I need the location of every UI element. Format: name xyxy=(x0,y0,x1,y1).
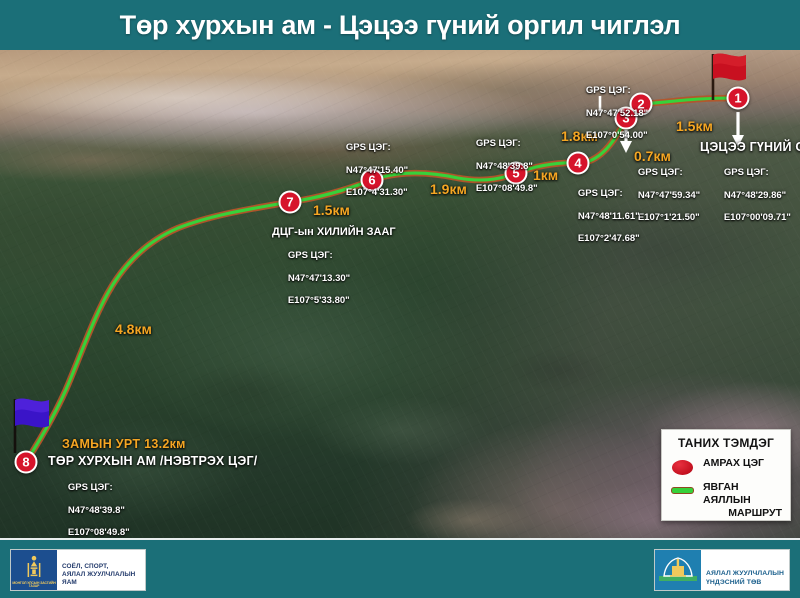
waypoint-label: 1 xyxy=(734,91,741,106)
gps-latitude: N47°48'39.8" xyxy=(68,505,125,516)
gps-longitude: E107°5'33.80" xyxy=(288,295,350,306)
legend-title: ТАНИХ ТЭМДЭГ xyxy=(670,436,782,450)
red-dot-icon xyxy=(672,460,693,475)
gps-longitude: E107°4'31.30" xyxy=(346,187,408,198)
waypoint-marker-7[interactable]: 7 xyxy=(279,191,302,214)
ministry-name-line1: СОЁЛ, СПОРТ, xyxy=(62,563,145,571)
tourism-center-line1: АЯЛАЛ ЖУУЛЧЛАЛЫН xyxy=(706,570,784,578)
gps-longitude: E107°00'09.71" xyxy=(724,212,791,223)
start-flag-icon xyxy=(6,393,60,460)
ger-emblem-icon xyxy=(655,550,701,590)
page-title: Төр хурхын ам - Цэцээ гүний оргил чиглэл xyxy=(120,10,681,41)
legend-label-line2: МАРШРУТ xyxy=(703,507,782,520)
map-legend: ТАНИХ ТЭМДЭГ АМРАХ ЦЭГ ЯВГАН АЯЛЛЫН МАРШ… xyxy=(661,429,791,521)
waypoint-marker-4[interactable]: 4 xyxy=(567,152,590,175)
distance-label-1-2: 1.5км xyxy=(676,118,713,134)
gps-title: GPS ЦЭГ: xyxy=(476,138,521,149)
ministry-logo: МОНГОЛ УЛСЫН ЗАСГИЙН ГАЗАР СОЁЛ, СПОРТ, … xyxy=(10,549,146,591)
poster-root: Төр хурхын ам - Цэцээ гүний оргил чиглэл xyxy=(0,0,800,598)
gps-title: GPS ЦЭГ: xyxy=(68,482,113,493)
legend-label-line1: ЯВГАН АЯЛЛЫН xyxy=(703,481,751,506)
legend-label-rest-point: АМРАХ ЦЭГ xyxy=(703,457,764,470)
waypoint-marker-8[interactable]: 8 xyxy=(15,451,38,474)
waypoint-label: 7 xyxy=(286,195,293,210)
legend-label-hiking-route: ЯВГАН АЯЛЛЫН МАРШРУТ xyxy=(703,481,782,520)
tourism-center-name: АЯЛАЛ ЖУУЛЧЛАЛЫН ҮНДЭСНИЙ ТӨВ xyxy=(701,550,789,590)
gps-longitude: E107°2'47.68" xyxy=(578,233,640,244)
gps-longitude: E107°0'54.00" xyxy=(586,130,648,141)
tourism-center-logo: АЯЛАЛ ЖУУЛЧЛАЛЫН ҮНДЭСНИЙ ТӨВ xyxy=(654,549,790,591)
gps-latitude: N47°48'29.86" xyxy=(724,190,786,201)
gps-title: GPS ЦЭГ: xyxy=(638,167,683,178)
gps-latitude: N47°47'59.34" xyxy=(638,190,700,201)
waypoint-marker-1[interactable]: 1 xyxy=(727,87,750,110)
soyombo-emblem-icon: МОНГОЛ УЛСЫН ЗАСГИЙН ГАЗАР xyxy=(11,550,57,590)
gps-title: GPS ЦЭГ: xyxy=(586,85,631,96)
poster-header: Төр хурхын ам - Цэцээ гүний оргил чиглэл xyxy=(0,0,800,50)
ministry-name: СОЁЛ, СПОРТ, АЯЛАЛ ЖУУЛЧЛАЛЫН ЯАМ xyxy=(57,550,145,590)
gps-latitude: N47°48'39.8" xyxy=(476,161,533,172)
waypoint-label: 8 xyxy=(22,455,29,470)
legend-item-hiking-route: ЯВГАН АЯЛЛЫН МАРШРУТ xyxy=(670,481,782,520)
gps-title: GPS ЦЭГ: xyxy=(288,250,333,261)
route-total-length: ЗАМЫН УРТ 13.2км xyxy=(62,437,186,451)
tourism-center-line2: ҮНДЭСНИЙ ТӨВ xyxy=(706,579,784,587)
gps-longitude: E107°08'49.8" xyxy=(476,183,538,194)
gps-label-point-4: GPS ЦЭГ: N47°48'11.61" E107°2'47.68" xyxy=(562,177,640,255)
legend-symbol-wrap xyxy=(670,457,696,475)
place-label-entrance: ТӨР ХУРХЫН АМ /НЭВТРЭХ ЦЭГ/ xyxy=(48,454,257,468)
gps-label-point-5: GPS ЦЭГ: N47°48'39.8" E107°08'49.8" xyxy=(460,127,538,205)
green-line-icon xyxy=(671,487,694,494)
gps-label-point-8: GPS ЦЭГ: N47°48'39.8" E107°08'49.8" xyxy=(52,471,130,538)
place-label-park-border: ДЦГ-ын ХИЛИЙН ЗААГ xyxy=(272,226,396,238)
legend-symbol-wrap xyxy=(670,481,696,494)
gps-title: GPS ЦЭГ: xyxy=(346,142,391,153)
gps-label-point-1: GPS ЦЭГ: N47°48'29.86" E107°00'09.71" xyxy=(708,156,791,234)
legend-item-rest-point: АМРАХ ЦЭГ xyxy=(670,457,782,475)
gps-longitude: E107°08'49.8" xyxy=(68,527,130,538)
gps-latitude: N47°47'15.40" xyxy=(346,165,408,176)
emblem-caption: МОНГОЛ УЛСЫН ЗАСГИЙН ГАЗАР xyxy=(11,582,57,589)
distance-label-7-8: 4.8км xyxy=(115,321,152,337)
gps-latitude: N47°48'11.61" xyxy=(578,211,640,222)
waypoint-label: 4 xyxy=(574,156,581,171)
gps-latitude: N47°47'13.30" xyxy=(288,273,350,284)
place-label-summit: ЦЭЦЭЭ ГҮНИЙ ОРГИЛ xyxy=(700,140,800,154)
gps-latitude: N47°47'52.18" xyxy=(586,108,648,119)
gps-label-point-6: GPS ЦЭГ: N47°47'15.40" E107°4'31.30" xyxy=(330,131,408,209)
gps-label-point-2: GPS ЦЭГ: N47°47'52.18" E107°0'54.00" xyxy=(570,74,648,152)
gps-label-point-7: GPS ЦЭГ: N47°47'13.30" E107°5'33.80" xyxy=(272,239,350,317)
gps-title: GPS ЦЭГ: xyxy=(578,188,623,199)
footer-divider xyxy=(0,538,800,540)
ministry-name-line2: АЯЛАЛ ЖУУЛЧЛАЛЫН ЯАМ xyxy=(62,571,145,587)
gps-longitude: E107°1'21.50" xyxy=(638,212,700,223)
gps-title: GPS ЦЭГ: xyxy=(724,167,769,178)
